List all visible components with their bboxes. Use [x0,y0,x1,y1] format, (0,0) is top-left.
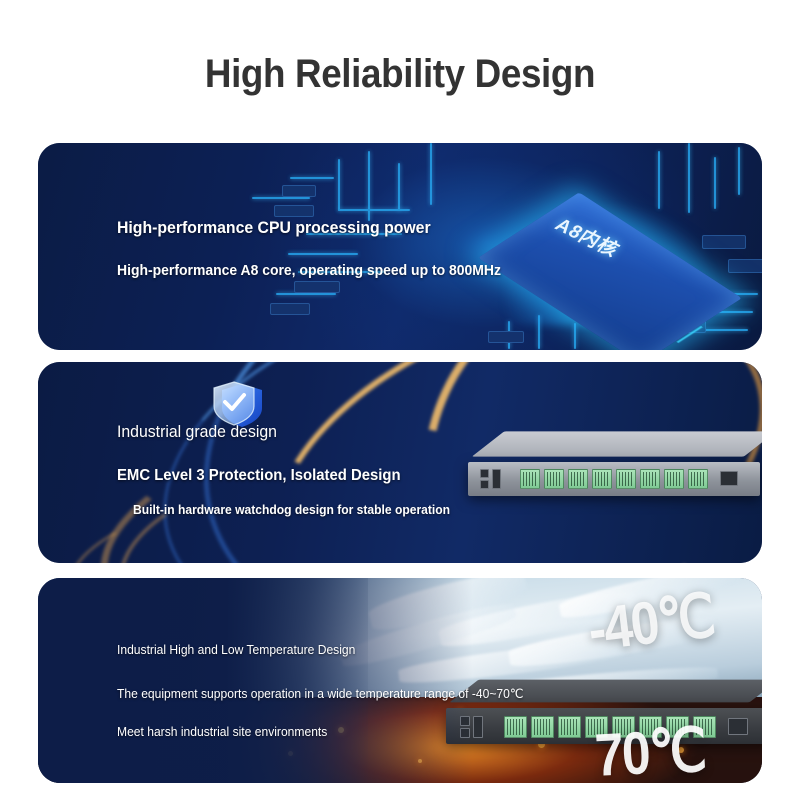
panel-2-detail: EMC Level 3 Protection, Isolated Design [117,467,401,485]
panel-1-heading: High-performance CPU processing power [117,218,431,238]
panel-2-subdetail: Built-in hardware watchdog design for st… [133,502,450,517]
panel-2-text-block: Industrial grade design EMC Level 3 Prot… [38,362,762,563]
product-feature-page: High Reliability Design [0,0,800,800]
feature-panel-industrial-grade: Industrial grade design EMC Level 3 Prot… [38,362,762,563]
panel-3-text-block: Industrial High and Low Temperature Desi… [38,578,762,783]
panel-3-heading: Industrial High and Low Temperature Desi… [117,642,355,657]
panel-3-subdetail: Meet harsh industrial site environments [117,724,327,739]
page-title: High Reliability Design [32,52,768,97]
feature-panel-cpu-performance: A8内核 High-performance CPU processing pow… [38,143,762,350]
shield-check-icon [212,378,270,432]
feature-panel-temperature-range: -40℃ 70℃ Industrial High and [38,578,762,783]
panel-3-detail: The equipment supports operation in a wi… [117,686,523,702]
panel-1-text-block: High-performance CPU processing power Hi… [38,143,762,350]
panel-1-detail: High-performance A8 core, operating spee… [117,262,501,279]
